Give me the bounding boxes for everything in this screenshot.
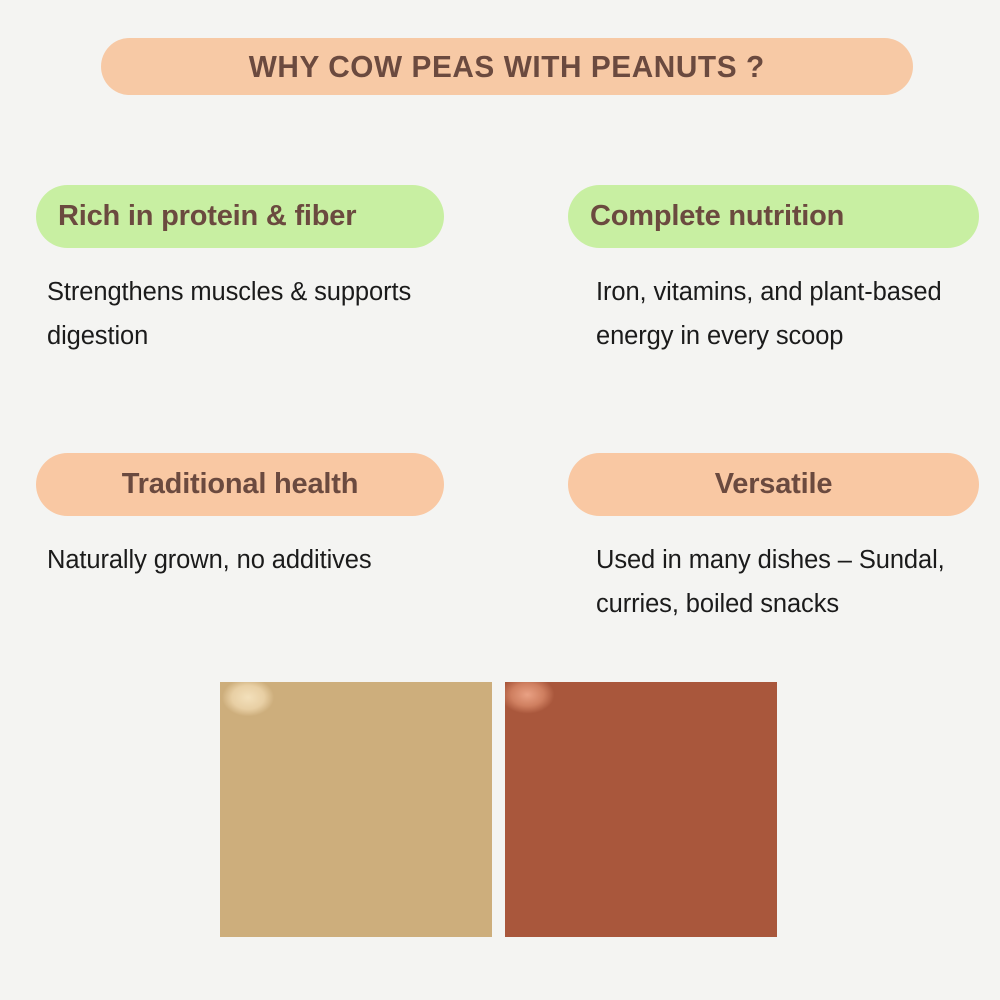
feature-card-rich-in-protein-fiber: Rich in protein & fiber Strengthens musc… <box>36 185 444 359</box>
feature-card-complete-nutrition: Complete nutrition Iron, vitamins, and p… <box>568 185 979 359</box>
feature-card-traditional-health: Traditional health Naturally grown, no a… <box>36 453 444 582</box>
feature-heading-label: Complete nutrition <box>590 200 844 233</box>
feature-heading-label: Versatile <box>715 468 833 501</box>
black-eyed-peas-texture <box>220 682 492 937</box>
feature-heading-pill: Rich in protein & fiber <box>36 185 444 248</box>
feature-card-versatile: Versatile Used in many dishes – Sundal, … <box>568 453 979 627</box>
feature-body-text: Strengthens muscles & supports digestion <box>36 270 416 359</box>
feature-heading-label: Rich in protein & fiber <box>58 200 356 233</box>
feature-heading-label: Traditional health <box>122 468 359 501</box>
infographic-canvas: WHY COW PEAS WITH PEANUTS ? Rich in prot… <box>0 0 1000 1000</box>
feature-heading-pill: Versatile <box>568 453 979 516</box>
black-eyed-peas-photo <box>220 682 492 937</box>
feature-body-text: Naturally grown, no additives <box>36 538 416 582</box>
feature-body-text: Iron, vitamins, and plant-based energy i… <box>568 270 968 359</box>
peanuts-photo <box>505 682 777 937</box>
page-title: WHY COW PEAS WITH PEANUTS ? <box>249 49 765 85</box>
feature-heading-pill: Complete nutrition <box>568 185 979 248</box>
feature-body-text: Used in many dishes – Sundal, curries, b… <box>568 538 968 627</box>
feature-heading-pill: Traditional health <box>36 453 444 516</box>
header-title-pill: WHY COW PEAS WITH PEANUTS ? <box>101 38 913 95</box>
product-photo-strip <box>220 682 777 937</box>
peanuts-texture <box>505 682 777 937</box>
